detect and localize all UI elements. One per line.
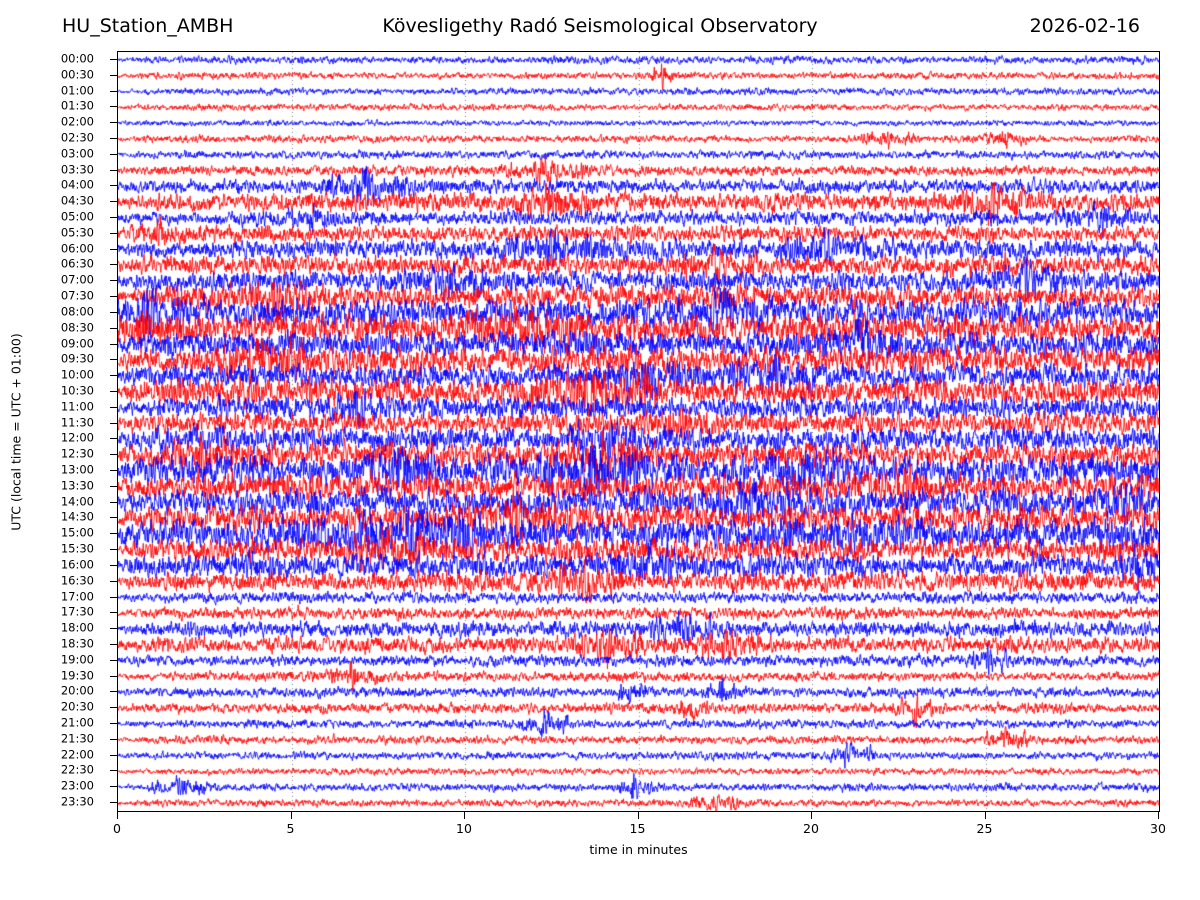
x-axis-title: time in minutes xyxy=(589,842,687,857)
y-tick-mark xyxy=(110,59,117,60)
y-tick-label: 21:30 xyxy=(61,733,94,745)
y-tick-label: 13:00 xyxy=(61,464,94,476)
plot-date: 2026-02-16 xyxy=(1030,14,1140,38)
x-tick-mark xyxy=(638,812,639,819)
x-tick-label: 30 xyxy=(1150,822,1166,836)
y-tick-mark xyxy=(110,312,117,313)
chart-header: HU_Station_AMBH Kövesligethy Radó Seismo… xyxy=(0,14,1200,46)
y-tick-mark xyxy=(110,233,117,234)
y-tick-label: 02:30 xyxy=(61,132,94,144)
x-tick-label: 20 xyxy=(803,822,819,836)
y-tick-label: 01:30 xyxy=(61,101,94,113)
y-axis: UTC (local time = UTC + 01:00) 00:0000:3… xyxy=(0,51,117,812)
y-tick-label: 14:30 xyxy=(61,512,94,524)
y-tick-mark xyxy=(110,723,117,724)
y-tick-mark xyxy=(110,154,117,155)
x-tick-label: 25 xyxy=(977,822,993,836)
y-tick-mark xyxy=(110,423,117,424)
y-tick-label: 00:30 xyxy=(61,69,94,81)
y-tick-mark xyxy=(110,454,117,455)
y-tick-label: 03:30 xyxy=(61,164,94,176)
y-tick-mark xyxy=(110,628,117,629)
y-tick-label: 05:00 xyxy=(61,211,94,223)
y-tick-mark xyxy=(110,280,117,281)
x-axis: time in minutes 051015202530 xyxy=(117,812,1160,872)
x-tick-mark xyxy=(117,812,118,819)
y-tick-mark xyxy=(110,565,117,566)
y-tick-label: 09:00 xyxy=(61,338,94,350)
station-name: HU_Station_AMBH xyxy=(62,14,233,38)
y-tick-mark xyxy=(110,391,117,392)
y-tick-label: 09:30 xyxy=(61,354,94,366)
x-tick-mark xyxy=(291,812,292,819)
y-tick-label: 22:30 xyxy=(61,765,94,777)
y-tick-label: 18:00 xyxy=(61,622,94,634)
y-tick-label: 01:00 xyxy=(61,85,94,97)
y-tick-mark xyxy=(110,549,117,550)
y-tick-mark xyxy=(110,122,117,123)
y-tick-mark xyxy=(110,676,117,677)
y-tick-mark xyxy=(110,470,117,471)
y-tick-mark xyxy=(110,344,117,345)
y-tick-label: 19:00 xyxy=(61,654,94,666)
y-tick-label: 18:30 xyxy=(61,638,94,650)
y-tick-label: 13:30 xyxy=(61,480,94,492)
y-tick-mark xyxy=(110,375,117,376)
y-tick-mark xyxy=(110,75,117,76)
y-tick-label: 02:00 xyxy=(61,116,94,128)
y-tick-label: 23:00 xyxy=(61,781,94,793)
y-tick-mark xyxy=(110,691,117,692)
y-tick-label: 10:00 xyxy=(61,369,94,381)
x-tick-label: 15 xyxy=(630,822,646,836)
y-tick-label: 11:00 xyxy=(61,401,94,413)
y-tick-mark xyxy=(110,359,117,360)
y-tick-label: 20:30 xyxy=(61,701,94,713)
x-tick-label: 10 xyxy=(456,822,472,836)
y-tick-label: 16:00 xyxy=(61,559,94,571)
y-tick-mark xyxy=(110,407,117,408)
y-tick-mark xyxy=(110,106,117,107)
y-tick-mark xyxy=(110,597,117,598)
y-tick-label: 21:00 xyxy=(61,717,94,729)
y-tick-label: 17:30 xyxy=(61,607,94,619)
y-tick-mark xyxy=(110,660,117,661)
y-tick-label: 04:30 xyxy=(61,195,94,207)
y-tick-mark xyxy=(110,264,117,265)
y-tick-label: 17:00 xyxy=(61,591,94,603)
y-tick-mark xyxy=(110,517,117,518)
x-tick-label: 5 xyxy=(287,822,295,836)
y-tick-label: 22:00 xyxy=(61,749,94,761)
y-tick-label: 15:00 xyxy=(61,528,94,540)
y-tick-mark xyxy=(110,770,117,771)
y-tick-mark xyxy=(110,786,117,787)
y-tick-mark xyxy=(110,217,117,218)
y-tick-label: 19:30 xyxy=(61,670,94,682)
y-tick-mark xyxy=(110,644,117,645)
y-tick-mark xyxy=(110,612,117,613)
y-tick-label: 12:00 xyxy=(61,433,94,445)
y-tick-mark xyxy=(110,249,117,250)
y-tick-label: 07:00 xyxy=(61,275,94,287)
y-tick-mark xyxy=(110,581,117,582)
y-tick-label: 11:30 xyxy=(61,417,94,429)
seismogram-plot-area xyxy=(117,51,1160,812)
helicorder-page: HU_Station_AMBH Kövesligethy Radó Seismo… xyxy=(0,0,1200,900)
x-tick-mark xyxy=(464,812,465,819)
y-tick-mark xyxy=(110,185,117,186)
y-tick-mark xyxy=(110,328,117,329)
y-tick-label: 04:00 xyxy=(61,180,94,192)
y-tick-mark xyxy=(110,296,117,297)
y-tick-label: 23:30 xyxy=(61,796,94,808)
y-tick-mark xyxy=(110,533,117,534)
y-tick-mark xyxy=(110,201,117,202)
y-tick-label: 06:00 xyxy=(61,243,94,255)
y-tick-mark xyxy=(110,739,117,740)
y-tick-label: 16:30 xyxy=(61,575,94,587)
y-tick-mark xyxy=(110,755,117,756)
y-tick-label: 08:30 xyxy=(61,322,94,334)
y-tick-label: 08:00 xyxy=(61,306,94,318)
y-tick-mark xyxy=(110,802,117,803)
y-tick-label: 10:30 xyxy=(61,385,94,397)
y-tick-label: 06:30 xyxy=(61,259,94,271)
seismic-trace-canvas xyxy=(118,52,1159,811)
y-tick-label: 20:00 xyxy=(61,686,94,698)
x-tick-mark xyxy=(811,812,812,819)
y-tick-mark xyxy=(110,486,117,487)
y-tick-label: 12:30 xyxy=(61,448,94,460)
observatory-title: Kövesligethy Radó Seismological Observat… xyxy=(382,14,817,38)
y-tick-label: 07:30 xyxy=(61,290,94,302)
y-tick-label: 03:00 xyxy=(61,148,94,160)
y-tick-mark xyxy=(110,707,117,708)
x-tick-mark xyxy=(1158,812,1159,819)
y-tick-mark xyxy=(110,438,117,439)
y-axis-title: UTC (local time = UTC + 01:00) xyxy=(9,333,24,531)
y-tick-label: 15:30 xyxy=(61,543,94,555)
y-tick-mark xyxy=(110,91,117,92)
y-tick-mark xyxy=(110,502,117,503)
y-tick-label: 14:00 xyxy=(61,496,94,508)
x-tick-mark xyxy=(985,812,986,819)
y-tick-mark xyxy=(110,170,117,171)
y-tick-label: 00:00 xyxy=(61,53,94,65)
y-tick-mark xyxy=(110,138,117,139)
y-tick-label: 05:30 xyxy=(61,227,94,239)
x-tick-label: 0 xyxy=(113,822,121,836)
